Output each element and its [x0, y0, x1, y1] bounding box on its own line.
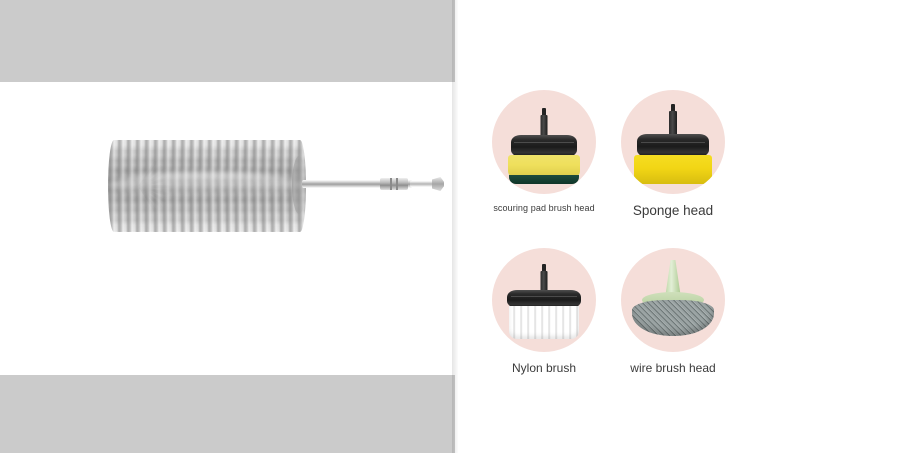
accessory-scouring-pad-brush-head[interactable]: scouring pad brush head: [492, 90, 596, 213]
brush-highlight: [110, 172, 304, 198]
accessory-label: Nylon brush: [492, 361, 596, 375]
panel-divider: [452, 0, 458, 453]
bottle-brush-product: [80, 136, 430, 236]
accessory-label: wire brush head: [621, 361, 725, 375]
accessory-image-sponge: [621, 90, 725, 194]
right-product-panel: scouring pad brush head Sponge head Ny: [459, 0, 919, 453]
accessory-wire-brush-head[interactable]: wire brush head: [621, 248, 725, 375]
accessory-nylon-brush[interactable]: Nylon brush: [492, 248, 596, 375]
brush-hex-collar: [380, 178, 408, 190]
accessory-image-scouring-pad: [492, 90, 596, 194]
brush-drill-bit-tip: [432, 177, 444, 191]
product-image-canvas: scouring pad brush head Sponge head Ny: [0, 0, 919, 453]
top-gray-band: [0, 0, 455, 82]
bottom-gray-band: [0, 375, 455, 453]
accessory-label: Sponge head: [621, 203, 725, 218]
accessory-image-nylon-brush: [492, 248, 596, 352]
left-product-panel: [0, 0, 458, 453]
brush-shaft-neck: [410, 181, 434, 187]
accessory-label: scouring pad brush head: [492, 203, 596, 213]
accessory-sponge-head[interactable]: Sponge head: [621, 90, 725, 218]
accessory-image-wire-brush: [621, 248, 725, 352]
